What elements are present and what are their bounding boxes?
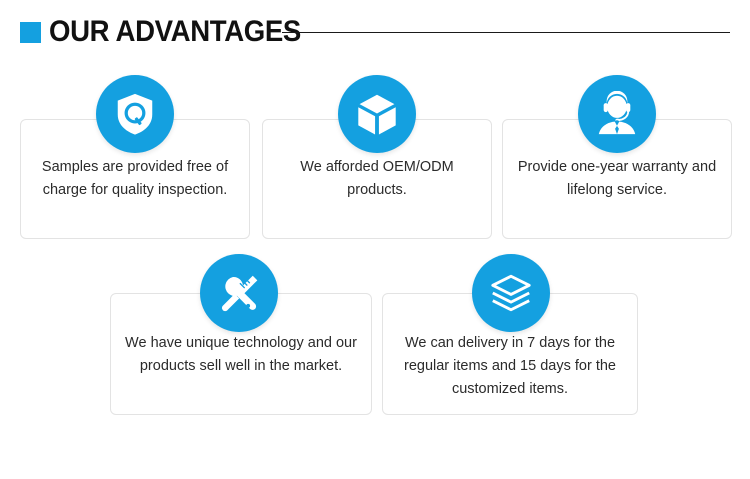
page-title: OUR ADVANTAGES xyxy=(49,12,301,52)
blue-square-bullet-icon xyxy=(20,22,41,43)
box-3d-icon xyxy=(338,75,416,153)
advantage-card-text: We have unique technology and our produc… xyxy=(123,332,359,378)
layers-stack-icon xyxy=(472,254,550,332)
customer-service-agent-icon xyxy=(578,75,656,153)
page-header: OUR ADVANTAGES xyxy=(0,0,750,62)
header-divider-rule xyxy=(282,32,730,33)
advantage-card-text: Provide one-year warranty and lifelong s… xyxy=(515,156,719,202)
advantage-card-text: We can delivery in 7 days for the regula… xyxy=(395,332,625,401)
advantage-card-text: Samples are provided free of charge for … xyxy=(33,156,237,202)
wrench-screwdriver-tools-icon xyxy=(200,254,278,332)
shield-quality-icon xyxy=(96,75,174,153)
advantage-card-text: We afforded OEM/ODM products. xyxy=(275,156,479,202)
